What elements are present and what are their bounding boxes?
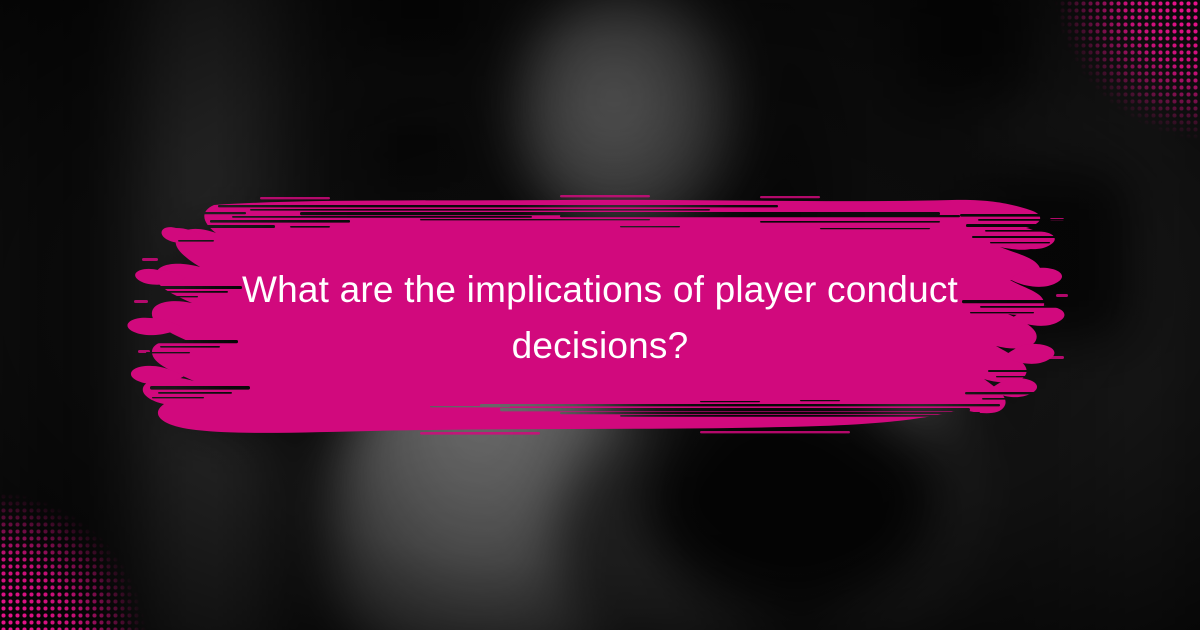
halftone-dots-bottom-left-icon (0, 465, 180, 630)
quote-text: What are the implications of player cond… (150, 262, 1050, 374)
quote-card: What are the implications of player cond… (0, 0, 1200, 630)
quote-line-1: What are the implications of player cond… (150, 262, 1050, 318)
halftone-dots-top-right-icon (1010, 0, 1200, 175)
quote-line-2: decisions? (150, 318, 1050, 374)
